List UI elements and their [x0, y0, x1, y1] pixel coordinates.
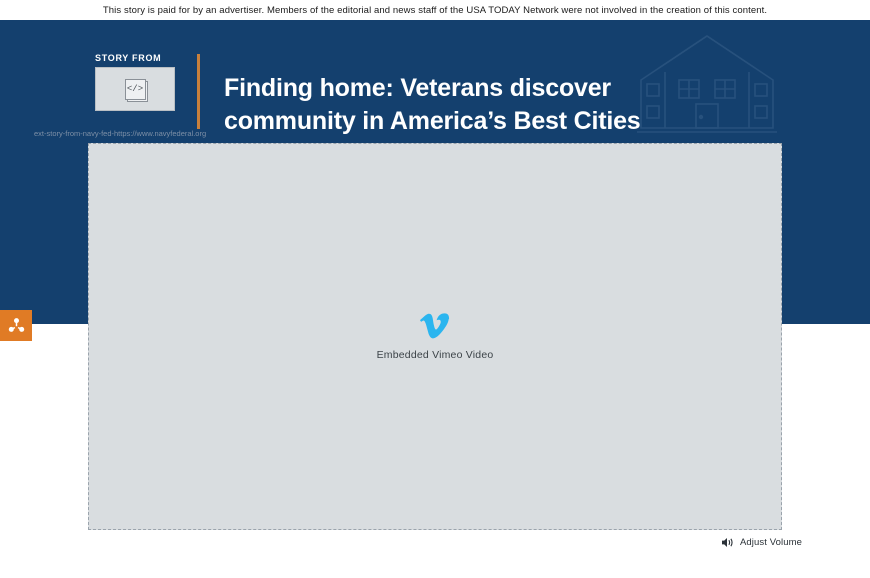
adjust-volume-control[interactable]: Adjust Volume: [722, 537, 802, 548]
share-network-icon: [8, 317, 25, 334]
vimeo-logo-icon: [420, 313, 450, 339]
broken-image-icon: </>: [125, 79, 146, 100]
story-from-label: STORY FROM: [95, 53, 175, 63]
story-from-block[interactable]: STORY FROM </> ext-story-from-navy-fed-h…: [95, 53, 175, 111]
hero-divider: [197, 54, 200, 129]
advertiser-disclaimer-bar: This story is paid for by an advertiser.…: [0, 0, 870, 20]
speaker-volume-icon: [722, 537, 734, 548]
share-button[interactable]: [0, 310, 32, 341]
house-line-art-icon: [635, 28, 780, 140]
video-embed-placeholder[interactable]: Embedded Vimeo Video: [88, 143, 782, 530]
adjust-volume-label: Adjust Volume: [740, 537, 802, 548]
video-placeholder-label: Embedded Vimeo Video: [377, 349, 494, 361]
page-title: Finding home: Veterans discover communit…: [224, 72, 644, 138]
advertiser-disclaimer-text: This story is paid for by an advertiser.…: [103, 5, 767, 16]
sponsor-logo-broken-image[interactable]: </>: [95, 67, 175, 111]
